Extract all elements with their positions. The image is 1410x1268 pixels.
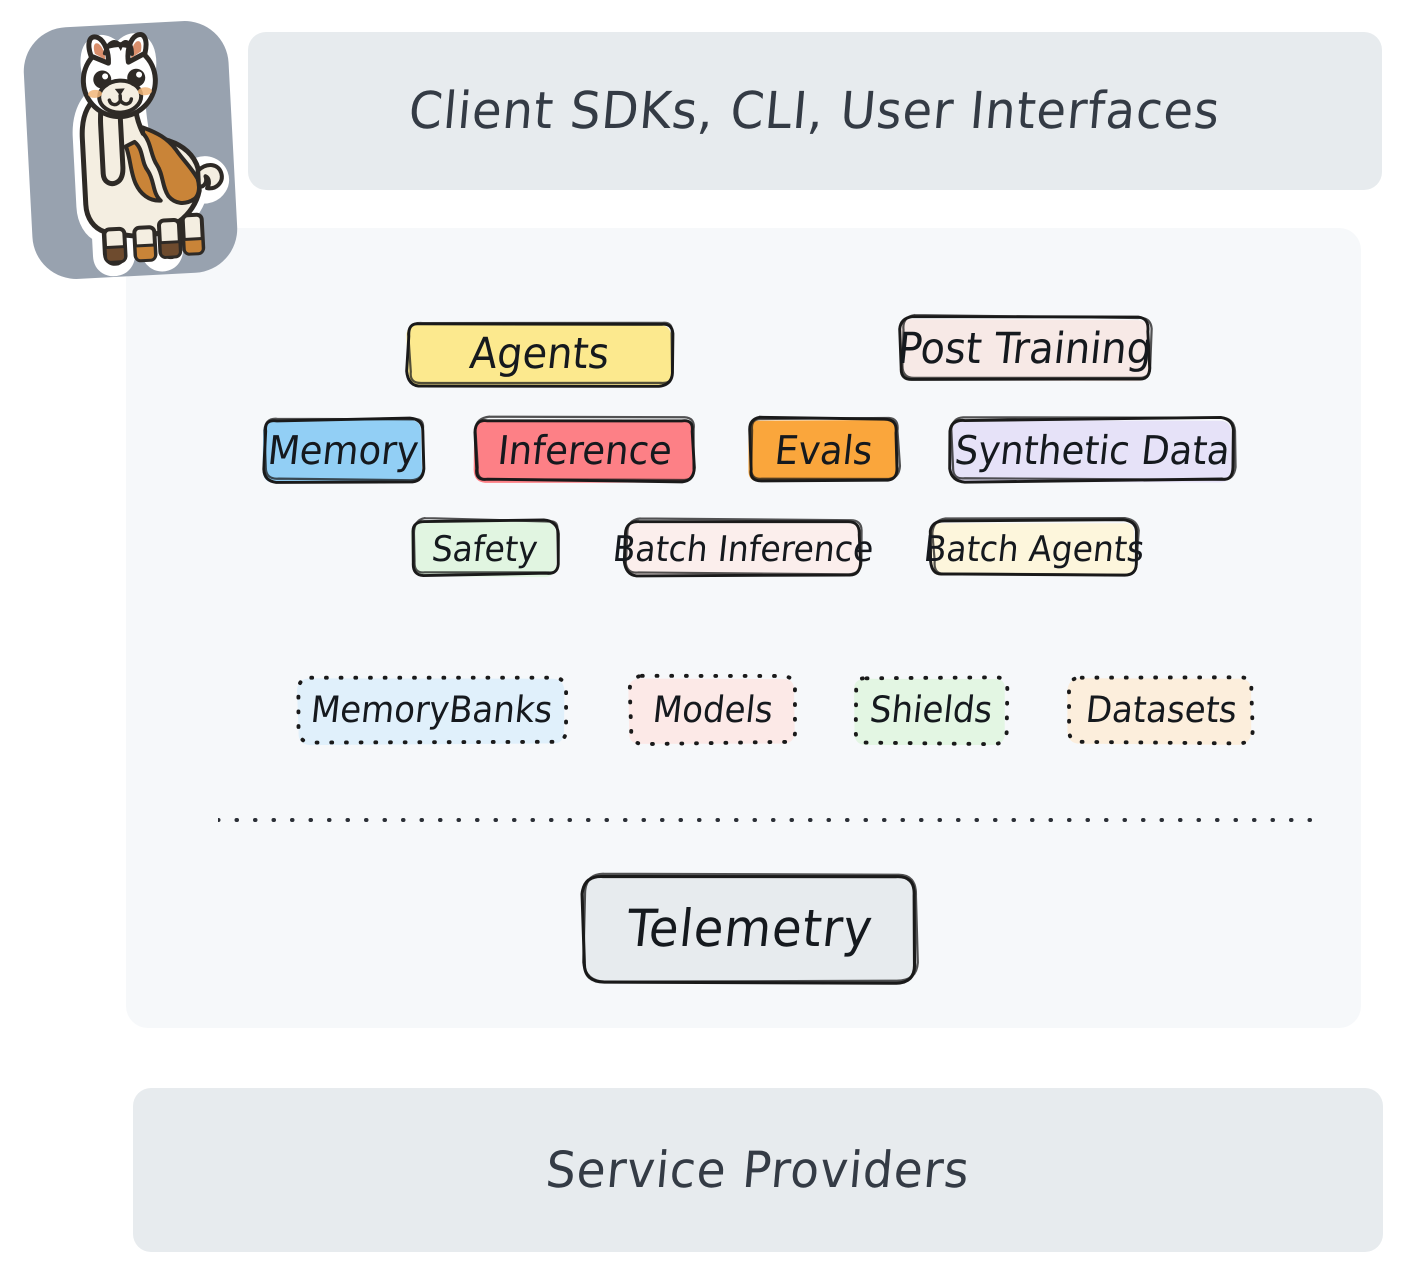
node-label: Memory [266,427,421,473]
resource-node-datasets[interactable]: Datasets [1055,672,1267,748]
node-label: MemoryBanks [309,689,555,732]
api-node-post-training[interactable]: Post Training [880,313,1170,385]
api-node-memory[interactable]: Memory [251,414,436,486]
api-node-batch-inference[interactable]: Batch Inference [604,516,882,580]
node-label: Batch Inference [611,527,876,569]
api-node-safety[interactable]: Safety [399,516,571,580]
api-node-evals[interactable]: Evals [737,414,910,486]
section-divider [218,818,1320,822]
node-label: Datasets [1083,689,1238,732]
node-label: Evals [772,427,874,473]
node-label: Batch Agents [922,527,1147,569]
api-node-batch-agents[interactable]: Batch Agents [913,516,1155,580]
client-interfaces-label: Client SDKs, CLI, User Interfaces [407,81,1223,140]
telemetry-node[interactable]: Telemetry [567,870,932,988]
service-providers-band: Service Providers [133,1088,1383,1252]
node-label: Agents [468,329,612,378]
api-node-inference[interactable]: Inference [457,414,712,486]
node-label: Post Training [895,324,1154,373]
resource-node-models[interactable]: Models [617,672,809,748]
api-node-synthetic-data[interactable]: Synthetic Data [928,414,1256,486]
node-label: Safety [430,527,540,569]
resource-node-shields[interactable]: Shields [843,672,1019,748]
node-label: Inference [495,427,674,473]
api-node-agents[interactable]: Agents [386,318,694,390]
service-providers-label: Service Providers [544,1141,973,1199]
node-label: Models [651,689,775,732]
node-label: Synthetic Data [952,427,1232,473]
node-label: Telemetry [623,899,875,959]
client-interfaces-band: Client SDKs, CLI, User Interfaces [248,32,1382,190]
llama-logo-icon [19,17,246,284]
resource-node-memorybanks[interactable]: MemoryBanks [278,672,586,748]
node-label: Shields [868,689,995,732]
